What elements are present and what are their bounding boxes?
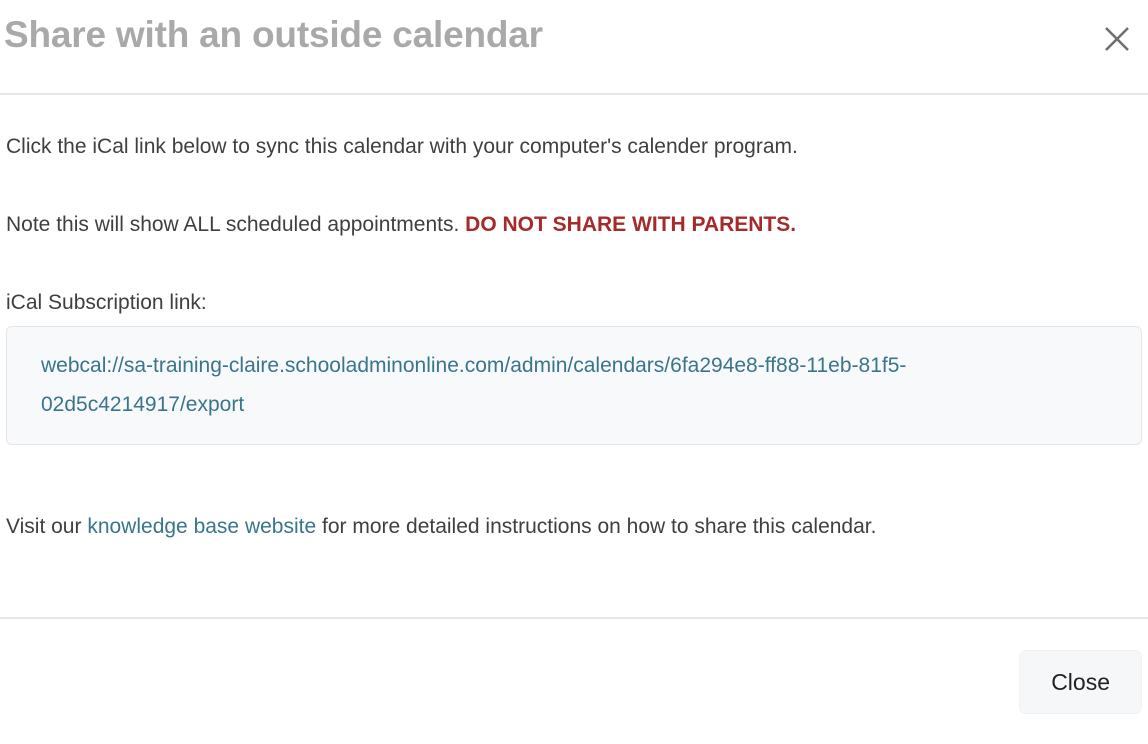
warning-prefix-text: Note this will show ALL scheduled appoin…	[6, 213, 465, 236]
ical-subscription-link[interactable]: webcal://sa-training-claire.schooladmino…	[41, 346, 1107, 424]
warning-paragraph: Note this will show ALL scheduled appoin…	[6, 212, 796, 238]
ical-subscription-label: iCal Subscription link:	[6, 290, 207, 316]
knowledge-base-prefix-text: Visit our	[6, 515, 87, 538]
page-title: Share with an outside calendar	[4, 12, 543, 58]
close-icon[interactable]	[1094, 16, 1140, 62]
knowledge-base-paragraph: Visit our knowledge base website for mor…	[6, 514, 876, 540]
dialog-header: Share with an outside calendar	[0, 0, 1148, 95]
ical-url-box: webcal://sa-training-claire.schooladmino…	[6, 326, 1142, 445]
instruction-paragraph: Click the iCal link below to sync this c…	[6, 134, 798, 160]
knowledge-base-suffix-text: for more detailed instructions on how to…	[316, 515, 876, 538]
share-calendar-dialog: Share with an outside calendar Click the…	[0, 0, 1148, 744]
warning-emphasis-text: DO NOT SHARE WITH PARENTS.	[465, 213, 796, 236]
knowledge-base-link[interactable]: knowledge base website	[87, 515, 316, 538]
close-button[interactable]: Close	[1019, 650, 1142, 714]
dialog-footer: Close	[0, 617, 1148, 744]
